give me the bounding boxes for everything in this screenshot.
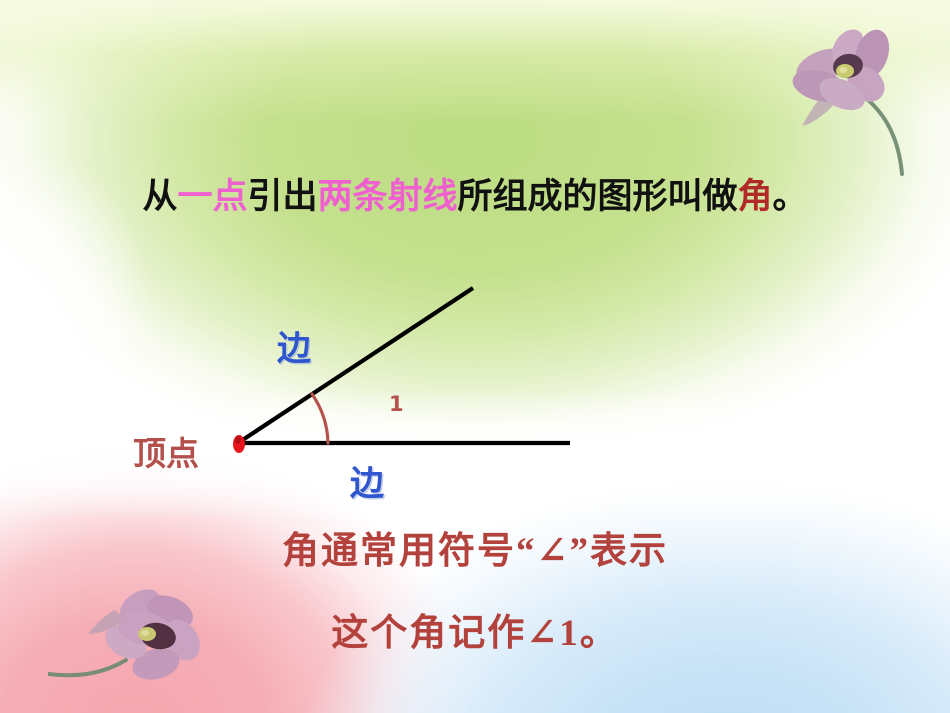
headline-seg-6: 。 <box>773 177 808 217</box>
statement-symbol: 角通常用符号“∠”表示 <box>0 520 950 574</box>
definition-headline: 从一点引出两条射线所组成的图形叫做角。 <box>0 176 950 218</box>
label-angle-number: 1 <box>389 392 404 416</box>
flower-pollen-highlight <box>839 67 847 73</box>
flower-bottom-left-icon <box>48 568 248 703</box>
flower-stem <box>48 660 126 675</box>
flower-stem <box>858 92 902 174</box>
flower-top-right-icon <box>780 14 950 179</box>
label-vertex: 顶点 <box>133 427 199 475</box>
headline-seg-4: 所组成的图形叫做 <box>458 177 738 217</box>
label-side-upper: 边 <box>277 321 311 370</box>
headline-seg-5: 角 <box>738 177 773 217</box>
headline-seg-3: 两条射线 <box>317 177 457 217</box>
headline-seg-0: 从 <box>142 177 177 217</box>
label-side-lower: 边 <box>350 456 384 505</box>
flower-pollen-highlight <box>141 630 149 636</box>
slide-canvas: 从一点引出两条射线所组成的图形叫做角。 边 边 顶点 1 角通常用符号“∠”表示… <box>0 0 950 713</box>
headline-seg-2: 引出 <box>247 177 317 217</box>
headline-seg-1: 一点 <box>177 177 247 217</box>
